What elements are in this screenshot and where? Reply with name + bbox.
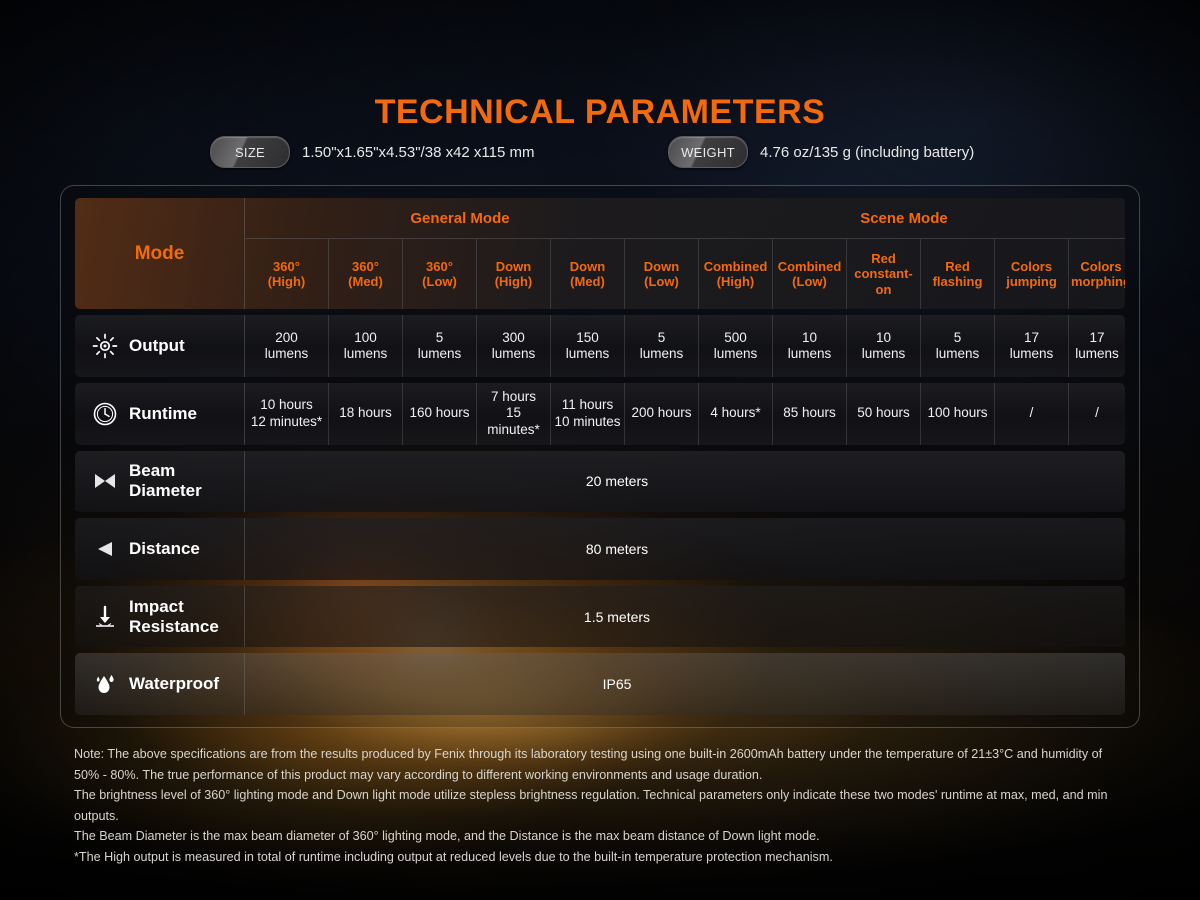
mode-column-header: 360° (Low): [403, 239, 477, 309]
sun-icon: [91, 332, 119, 360]
row-label-text-waterproof: Waterproof: [129, 674, 219, 694]
data-cell: 11 hours 10 minutes: [551, 383, 625, 445]
distance-icon: [91, 535, 119, 563]
row-label-text-beam-diameter: Beam Diameter: [129, 461, 202, 501]
data-cell: /: [995, 383, 1069, 445]
data-cell: 200 hours: [625, 383, 699, 445]
mode-column-header: Red flashing: [921, 239, 995, 309]
value-text-distance: 80 meters: [586, 541, 648, 557]
data-cell: 18 hours: [329, 383, 403, 445]
value-text-beam-diameter: 20 meters: [586, 473, 648, 489]
data-cell: 500 lumens: [699, 315, 773, 377]
group-scene-mode: Scene Mode: [675, 198, 1125, 238]
table-row-waterproof: Waterproof IP65: [75, 653, 1125, 715]
mode-column-header: 360° (Med): [329, 239, 403, 309]
data-cell: 200 lumens: [245, 315, 329, 377]
data-cell: 5 lumens: [625, 315, 699, 377]
weight-spec: WEIGHT 4.76 oz/135 g (including battery): [668, 136, 974, 168]
mode-column-header: Down (Low): [625, 239, 699, 309]
value-distance: 80 meters: [245, 518, 1125, 580]
data-cell: 10 hours 12 minutes*: [245, 383, 329, 445]
data-cell: 7 hours 15 minutes*: [477, 383, 551, 445]
group-row: General Mode Scene Mode: [245, 198, 1125, 239]
row-label-text-impact-resistance: Impact Resistance: [129, 597, 219, 637]
data-cell: 5 lumens: [921, 315, 995, 377]
page-title: TECHNICAL PARAMETERS: [0, 93, 1200, 132]
row-label-runtime: Runtime: [75, 383, 245, 445]
data-cell: 150 lumens: [551, 315, 625, 377]
row-label-distance: Distance: [75, 518, 245, 580]
row-label-output: Output: [75, 315, 245, 377]
size-value: 1.50"x1.65"x4.53"/38 x42 x115 mm: [302, 144, 535, 161]
row-label-beam-diameter: Beam Diameter: [75, 451, 245, 513]
data-cell: 50 hours: [847, 383, 921, 445]
mode-column-header: Red constant- on: [847, 239, 921, 309]
note-line: *The High output is measured in total of…: [74, 847, 1130, 868]
mode-column-header: Combined (High): [699, 239, 773, 309]
specifications-panel: Mode General Mode Scene Mode 360° (High)…: [60, 185, 1140, 728]
data-cell: 5 lumens: [403, 315, 477, 377]
row-label-impact-resistance: Impact Resistance: [75, 586, 245, 648]
mode-columns-row: 360° (High)360° (Med)360° (Low)Down (Hig…: [245, 239, 1125, 309]
spec-badges: SIZE 1.50"x1.65"x4.53"/38 x42 x115 mm WE…: [0, 136, 1200, 168]
table-row-distance: Distance 80 meters: [75, 518, 1125, 580]
table-header-row: Mode General Mode Scene Mode 360° (High)…: [75, 198, 1125, 309]
mode-column-header: Combined (Low): [773, 239, 847, 309]
data-cell: 17 lumens: [995, 315, 1069, 377]
weight-value: 4.76 oz/135 g (including battery): [760, 144, 974, 161]
value-beam-diameter: 20 meters: [245, 451, 1125, 513]
waterproof-icon: [91, 670, 119, 698]
row-label-text-runtime: Runtime: [129, 404, 197, 424]
note-line: The brightness level of 360° lighting mo…: [74, 785, 1130, 826]
row-label-text-output: Output: [129, 336, 185, 356]
row-label-waterproof: Waterproof: [75, 653, 245, 715]
value-text-waterproof: IP65: [603, 676, 632, 692]
note-line: The Beam Diameter is the max beam diamet…: [74, 826, 1130, 847]
table-row-impact-resistance: Impact Resistance 1.5 meters: [75, 586, 1125, 648]
data-cell: /: [1069, 383, 1125, 445]
size-badge: SIZE: [210, 136, 290, 168]
table-row-beam-diameter: Beam Diameter 20 meters: [75, 451, 1125, 513]
clock-icon: [91, 400, 119, 428]
data-cell: 100 lumens: [329, 315, 403, 377]
data-cell: 85 hours: [773, 383, 847, 445]
beam-diameter-icon: [91, 467, 119, 495]
mode-column-header: Down (High): [477, 239, 551, 309]
data-cell: 100 hours: [921, 383, 995, 445]
table-row-runtime: Runtime 10 hours 12 minutes*18 hours160 …: [75, 383, 1125, 445]
data-cells-output: 200 lumens100 lumens5 lumens300 lumens15…: [245, 315, 1125, 377]
data-cell: 300 lumens: [477, 315, 551, 377]
group-general-mode: General Mode: [245, 198, 675, 238]
data-cell: 10 lumens: [773, 315, 847, 377]
mode-header-cell: Mode: [75, 198, 245, 309]
mode-column-header: Down (Med): [551, 239, 625, 309]
value-text-impact-resistance: 1.5 meters: [584, 609, 650, 625]
data-cells-runtime: 10 hours 12 minutes*18 hours160 hours7 h…: [245, 383, 1125, 445]
mode-column-header: Colors jumping: [995, 239, 1069, 309]
row-label-text-distance: Distance: [129, 539, 200, 559]
mode-column-header: 360° (High): [245, 239, 329, 309]
impact-resistance-icon: [91, 603, 119, 631]
data-cell: 10 lumens: [847, 315, 921, 377]
mode-column-header: Colors morphing: [1069, 239, 1125, 309]
data-cell: 4 hours*: [699, 383, 773, 445]
notes-block: Note: The above specifications are from …: [74, 744, 1130, 868]
header-right: General Mode Scene Mode 360° (High)360° …: [245, 198, 1125, 309]
data-cell: 17 lumens: [1069, 315, 1125, 377]
size-spec: SIZE 1.50"x1.65"x4.53"/38 x42 x115 mm: [210, 136, 535, 168]
data-cell: 160 hours: [403, 383, 477, 445]
table-row-output: Output 200 lumens100 lumens5 lumens300 l…: [75, 315, 1125, 377]
value-waterproof: IP65: [245, 653, 1125, 715]
weight-badge: WEIGHT: [668, 136, 748, 168]
value-impact-resistance: 1.5 meters: [245, 586, 1125, 648]
note-line: Note: The above specifications are from …: [74, 744, 1130, 785]
specifications-table: Mode General Mode Scene Mode 360° (High)…: [75, 198, 1125, 715]
